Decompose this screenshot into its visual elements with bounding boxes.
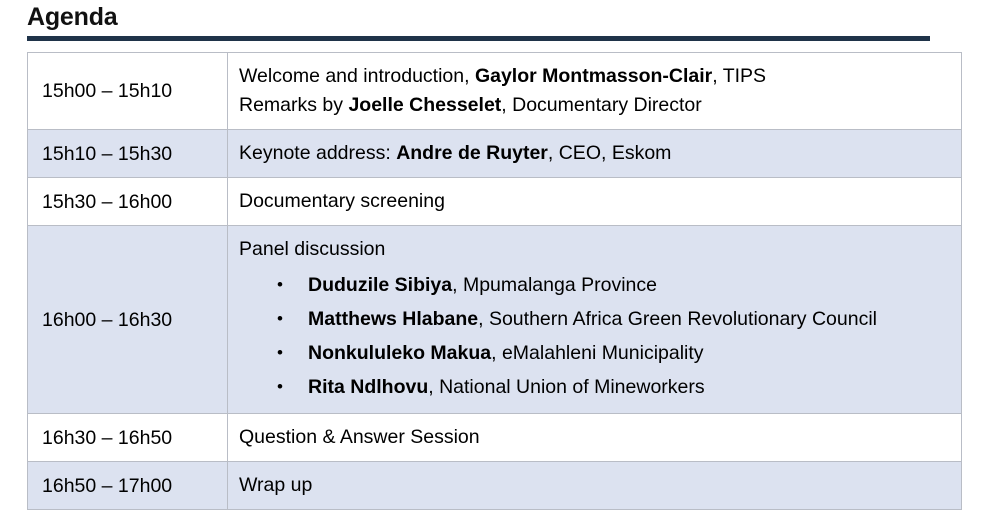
agenda-description-cell: Keynote address: Andre de Ruyter, CEO, E… (228, 130, 962, 178)
agenda-description-text: Documentary screening (228, 178, 961, 225)
agenda-time-label: 16h00 – 16h30 (28, 298, 227, 342)
panelist-affiliation: , National Union of Mineworkers (428, 376, 704, 398)
title-divider (27, 36, 930, 41)
line-bold: Andre de Ruyter (396, 142, 548, 164)
agenda-description-line: Welcome and introduction, Gaylor Montmas… (239, 62, 953, 91)
agenda-description-text: Wrap up (228, 462, 961, 509)
agenda-description-cell: Welcome and introduction, Gaylor Montmas… (228, 53, 962, 130)
panelist-name: Duduzile Sibiya (308, 274, 452, 296)
panelist-affiliation: , Mpumalanga Province (452, 274, 657, 296)
agenda-time-label: 15h00 – 15h10 (28, 69, 227, 113)
agenda-description-cell: Wrap up (228, 462, 962, 510)
list-item: •Duduzile Sibiya, Mpumalanga Province (239, 268, 953, 302)
agenda-time-cell: 16h30 – 16h50 (28, 414, 228, 462)
agenda-description-line: Keynote address: Andre de Ruyter, CEO, E… (239, 139, 953, 168)
agenda-description-text: Question & Answer Session (228, 414, 961, 461)
panelist-name: Rita Ndlhovu (308, 376, 428, 398)
line-prefix: Question & Answer Session (239, 426, 480, 448)
line-bold: Gaylor Montmasson-Clair (475, 65, 712, 87)
agenda-slide: Agenda 15h00 – 15h10 Welcome and introdu… (0, 0, 985, 527)
agenda-time-label: 16h30 – 16h50 (28, 416, 227, 460)
agenda-description-cell: Documentary screening (228, 178, 962, 226)
agenda-description-line: Question & Answer Session (239, 423, 953, 452)
agenda-description-line: Remarks by Joelle Chesselet, Documentary… (239, 91, 953, 120)
panelist-list: •Duduzile Sibiya, Mpumalanga Province •M… (239, 268, 953, 404)
bullet-icon: • (277, 302, 283, 336)
panelist-affiliation: , Southern Africa Green Revolutionary Co… (478, 308, 877, 330)
agenda-time-cell: 15h10 – 15h30 (28, 130, 228, 178)
agenda-time-label: 15h30 – 16h00 (28, 180, 227, 224)
agenda-description-cell: Question & Answer Session (228, 414, 962, 462)
list-item: •Matthews Hlabane, Southern Africa Green… (239, 302, 953, 336)
line-suffix: , TIPS (712, 65, 766, 87)
line-prefix: Welcome and introduction, (239, 65, 475, 87)
table-row: 16h30 – 16h50 Question & Answer Session (28, 414, 962, 462)
agenda-time-cell: 16h50 – 17h00 (28, 462, 228, 510)
panelist-name: Nonkululeko Makua (308, 342, 491, 364)
bullet-icon: • (277, 336, 283, 370)
line-suffix: , Documentary Director (501, 94, 701, 116)
agenda-time-label: 16h50 – 17h00 (28, 464, 227, 508)
agenda-time-cell: 15h30 – 16h00 (28, 178, 228, 226)
list-item: •Nonkululeko Makua, eMalahleni Municipal… (239, 336, 953, 370)
agenda-time-cell: 16h00 – 16h30 (28, 226, 228, 414)
line-suffix: , CEO, Eskom (548, 142, 672, 164)
agenda-description-line: Documentary screening (239, 187, 953, 216)
table-row: 15h30 – 16h00 Documentary screening (28, 178, 962, 226)
agenda-time-label: 15h10 – 15h30 (28, 132, 227, 176)
line-prefix: Documentary screening (239, 190, 445, 212)
agenda-time-cell: 15h00 – 15h10 (28, 53, 228, 130)
page-title: Agenda (27, 2, 117, 32)
bullet-icon: • (277, 268, 283, 302)
agenda-description-cell: Panel discussion •Duduzile Sibiya, Mpuma… (228, 226, 962, 414)
panel-discussion-block: Panel discussion •Duduzile Sibiya, Mpuma… (228, 226, 961, 413)
table-row-panel: 16h00 – 16h30 Panel discussion •Duduzile… (28, 226, 962, 414)
agenda-description-line: Wrap up (239, 471, 953, 500)
line-bold: Joelle Chesselet (348, 94, 501, 116)
panelist-affiliation: , eMalahleni Municipality (491, 342, 703, 364)
panelist-name: Matthews Hlabane (308, 308, 478, 330)
panel-heading: Panel discussion (239, 235, 953, 268)
table-row: 15h10 – 15h30 Keynote address: Andre de … (28, 130, 962, 178)
line-prefix: Remarks by (239, 94, 348, 116)
agenda-description-text: Keynote address: Andre de Ruyter, CEO, E… (228, 130, 961, 177)
agenda-table: 15h00 – 15h10 Welcome and introduction, … (27, 52, 962, 510)
list-item: •Rita Ndlhovu, National Union of Minewor… (239, 370, 953, 404)
agenda-description-text: Welcome and introduction, Gaylor Montmas… (228, 53, 961, 129)
line-prefix: Wrap up (239, 474, 312, 496)
table-row: 15h00 – 15h10 Welcome and introduction, … (28, 53, 962, 130)
bullet-icon: • (277, 370, 283, 404)
table-row: 16h50 – 17h00 Wrap up (28, 462, 962, 510)
line-prefix: Keynote address: (239, 142, 396, 164)
